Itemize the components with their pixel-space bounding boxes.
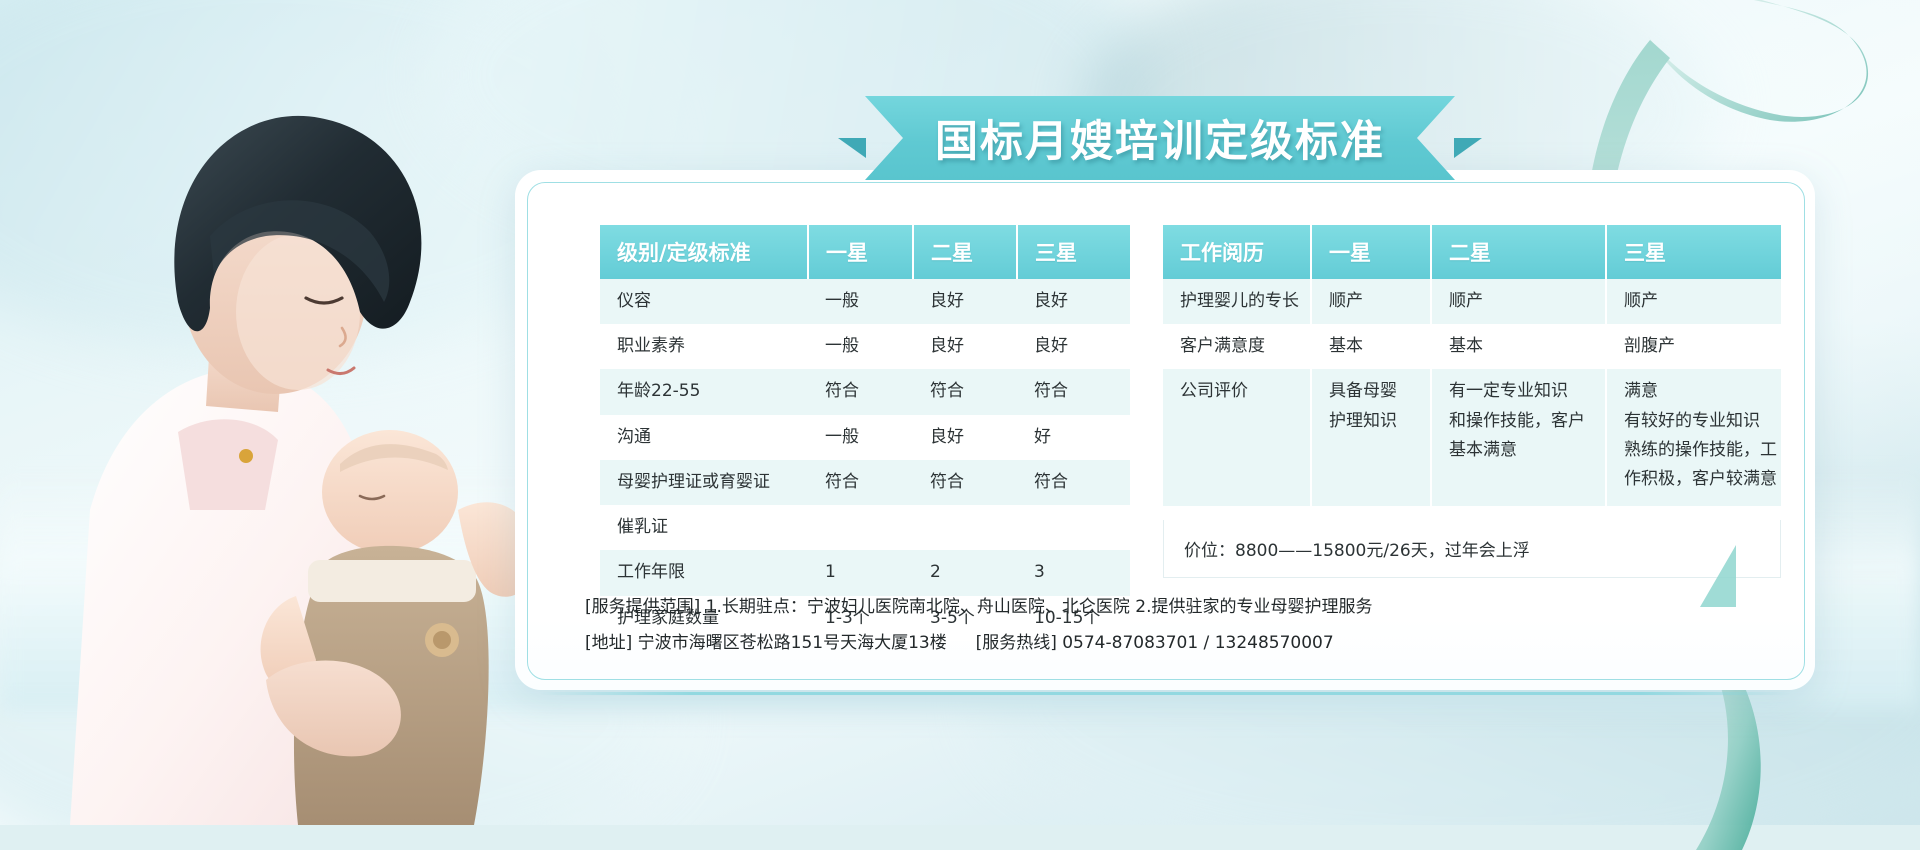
work-experience-table-element: 工作阅历 一星 二星 三星 护理婴儿的专长 顺产 顺产 顺产 客户满意度 <box>1163 225 1781 506</box>
column-header-one-star: 一星 <box>1311 225 1431 279</box>
column-header-experience: 工作阅历 <box>1163 225 1311 279</box>
cell-line: 顺产 <box>1449 287 1605 316</box>
cell-three-star: 好 <box>1017 415 1130 460</box>
cell-line: 满意 <box>1624 377 1781 406</box>
cell-one-star: 一般 <box>808 415 913 460</box>
cell-one-star: 具备母婴 护理知识 <box>1311 369 1431 506</box>
cell-three-star: 符合 <box>1017 460 1130 505</box>
table-row: 客户满意度 基本 基本 剖腹产 <box>1163 324 1781 369</box>
column-header-two-star: 二星 <box>1431 225 1606 279</box>
column-header-three-star: 三星 <box>1017 225 1130 279</box>
row-label: 仪容 <box>600 279 808 324</box>
price-note: 价位：8800——15800元/26天，过年会上浮 <box>1163 520 1781 578</box>
cell-line: 具备母婴 <box>1329 377 1430 406</box>
row-label: 母婴护理证或育婴证 <box>600 460 808 505</box>
cell-one-star: 基本 <box>1311 324 1431 369</box>
address-and-hotline-note: [地址] 宁波市海曙区苍松路151号天海大厦13楼 [服务热线] 0574-87… <box>585 628 1334 653</box>
column-header-criteria: 级别/定级标准 <box>600 225 808 279</box>
work-experience-table: 工作阅历 一星 二星 三星 护理婴儿的专长 顺产 顺产 顺产 客户满意度 <box>1163 225 1781 506</box>
cell-one-star: 顺产 <box>1311 279 1431 324</box>
hotline-label: [服务热线] 0574-87083701 / 13248570007 <box>976 633 1334 653</box>
row-label: 公司评价 <box>1163 369 1311 506</box>
table-row: 仪容 一般 良好 良好 <box>600 279 1130 324</box>
banner: 国标月嫂培训定级标准 <box>865 96 1455 180</box>
cell-three-star: 顺产 <box>1606 279 1781 324</box>
cell-line: 顺产 <box>1624 287 1781 316</box>
banner-tail-left <box>838 138 866 158</box>
cell-line: 剖腹产 <box>1624 332 1781 361</box>
table-row: 年龄22-55 符合 符合 符合 <box>600 369 1130 414</box>
card-underline <box>540 692 1790 695</box>
address-label: [地址] 宁波市海曙区苍松路151号天海大厦13楼 <box>585 633 947 653</box>
row-label: 工作年限 <box>600 550 808 595</box>
cell-line: 作积极，客户较满意 <box>1624 465 1781 494</box>
table-row: 母婴护理证或育婴证 符合 符合 符合 <box>600 460 1130 505</box>
table-row: 工作年限 1 2 3 <box>600 550 1130 595</box>
row-label: 年龄22-55 <box>600 369 808 414</box>
cell-two-star: 良好 <box>913 279 1017 324</box>
cell-line: 熟练的操作技能，工 <box>1624 436 1781 465</box>
service-scope-note: [服务提供范围] 1.长期驻点：宁波妇儿医院南北院、舟山医院、北仑医院 2.提供… <box>585 592 1373 617</box>
grading-standard-table: 级别/定级标准 一星 二星 三星 仪容 一般 良好 良好 职业素养 一般 良好 … <box>600 225 1130 641</box>
table-row: 沟通 一般 良好 好 <box>600 415 1130 460</box>
table-row: 公司评价 具备母婴 护理知识 有一定专业知识 和操作技能，客户 基本满意 满意 … <box>1163 369 1781 506</box>
cell-three-star: 满意 有较好的专业知识 熟练的操作技能，工 作积极，客户较满意 <box>1606 369 1781 506</box>
table-row: 护理婴儿的专长 顺产 顺产 顺产 <box>1163 279 1781 324</box>
cell-one-star: 一般 <box>808 324 913 369</box>
cell-line: 有一定专业知识 <box>1449 377 1605 406</box>
table-header-row: 级别/定级标准 一星 二星 三星 <box>600 225 1130 279</box>
cell-line: 和操作技能，客户 <box>1449 407 1605 436</box>
cell-three-star: 3 <box>1017 550 1130 595</box>
column-header-one-star: 一星 <box>808 225 913 279</box>
cell-one-star: 符合 <box>808 460 913 505</box>
cell-two-star: 顺产 <box>1431 279 1606 324</box>
cell-one-star: 一般 <box>808 279 913 324</box>
cell-two-star: 2 <box>913 550 1017 595</box>
cell-three-star <box>1017 505 1130 550</box>
cell-two-star: 有一定专业知识 和操作技能，客户 基本满意 <box>1431 369 1606 506</box>
table-row: 职业素养 一般 良好 良好 <box>600 324 1130 369</box>
cell-two-star: 符合 <box>913 460 1017 505</box>
table-body: 护理婴儿的专长 顺产 顺产 顺产 客户满意度 基本 基本 <box>1163 279 1781 506</box>
cell-three-star: 剖腹产 <box>1606 324 1781 369</box>
row-label: 客户满意度 <box>1163 324 1311 369</box>
ribbon-corner-accent <box>1700 545 1736 607</box>
cell-one-star: 1 <box>808 550 913 595</box>
table-header-row: 工作阅历 一星 二星 三星 <box>1163 225 1781 279</box>
column-header-three-star: 三星 <box>1606 225 1781 279</box>
cell-line: 基本 <box>1329 332 1430 361</box>
grading-standard-table-element: 级别/定级标准 一星 二星 三星 仪容 一般 良好 良好 职业素养 一般 良好 … <box>600 225 1130 641</box>
cell-two-star <box>913 505 1017 550</box>
banner-tail-right <box>1454 138 1482 158</box>
banner-title: 国标月嫂培训定级标准 <box>935 107 1385 169</box>
row-label: 沟通 <box>600 415 808 460</box>
column-header-two-star: 二星 <box>913 225 1017 279</box>
cell-two-star: 良好 <box>913 324 1017 369</box>
row-label: 职业素养 <box>600 324 808 369</box>
table-head: 工作阅历 一星 二星 三星 <box>1163 225 1781 279</box>
row-label: 护理婴儿的专长 <box>1163 279 1311 324</box>
row-label: 催乳证 <box>600 505 808 550</box>
cell-two-star: 基本 <box>1431 324 1606 369</box>
cell-three-star: 良好 <box>1017 279 1130 324</box>
cell-line: 顺产 <box>1329 287 1430 316</box>
cell-one-star: 符合 <box>808 369 913 414</box>
table-row: 催乳证 <box>600 505 1130 550</box>
cell-one-star <box>808 505 913 550</box>
cell-line: 基本 <box>1449 332 1605 361</box>
table-head: 级别/定级标准 一星 二星 三星 <box>600 225 1130 279</box>
cell-line: 有较好的专业知识 <box>1624 407 1781 436</box>
table-body: 仪容 一般 良好 良好 职业素养 一般 良好 良好 年龄22-55 符合 符合 … <box>600 279 1130 641</box>
cell-line: 护理知识 <box>1329 407 1430 436</box>
cell-three-star: 良好 <box>1017 324 1130 369</box>
cell-line: 基本满意 <box>1449 436 1605 465</box>
cell-three-star: 符合 <box>1017 369 1130 414</box>
cell-two-star: 良好 <box>913 415 1017 460</box>
cell-two-star: 符合 <box>913 369 1017 414</box>
